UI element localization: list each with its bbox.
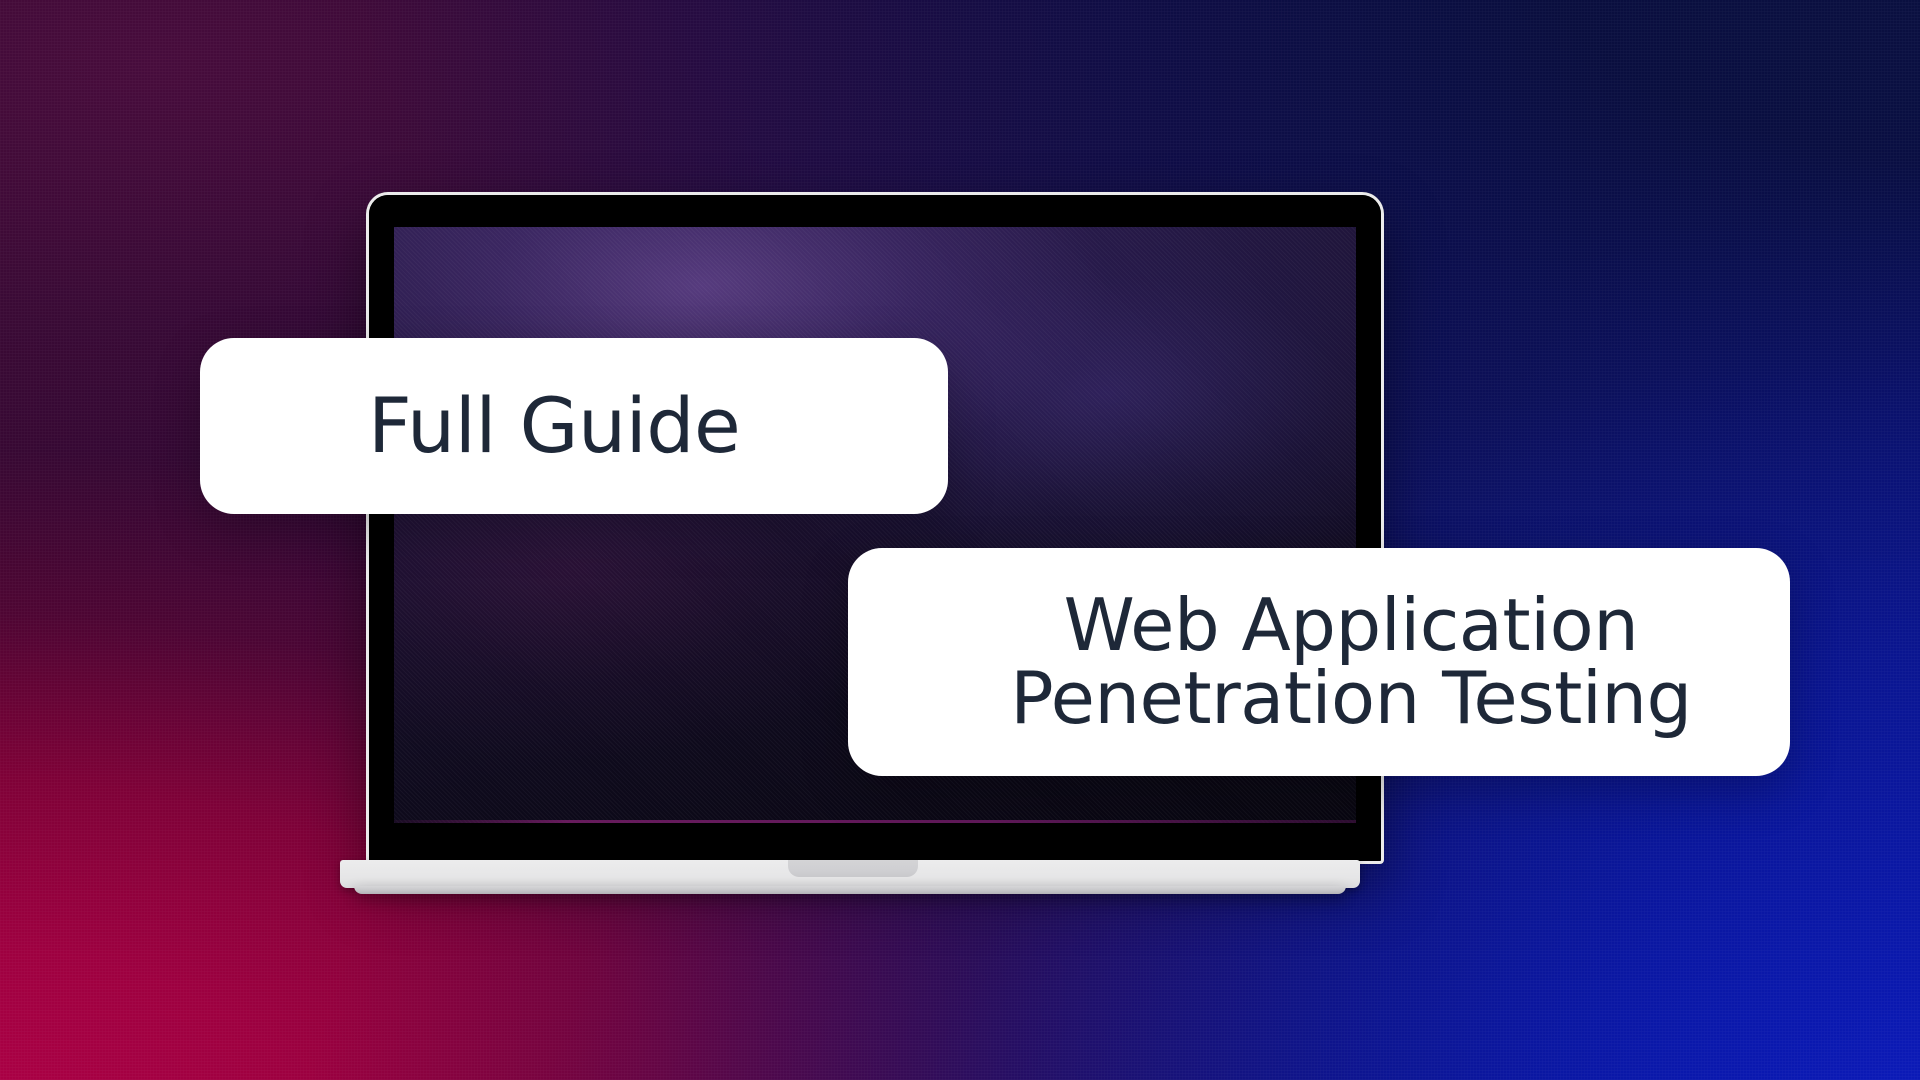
laptop-base-lip bbox=[354, 886, 1346, 894]
title-card: Web Application Penetration Testing bbox=[848, 548, 1790, 776]
screen-baseline bbox=[394, 820, 1356, 823]
badge-label-full-guide: Full Guide bbox=[368, 388, 740, 464]
poster-canvas: Full Guide Web Application Penetration T… bbox=[0, 0, 1920, 1080]
laptop-thumb-notch bbox=[788, 860, 918, 877]
badge-card-full-guide: Full Guide bbox=[200, 338, 948, 514]
title-line-2: Penetration Testing bbox=[1010, 662, 1691, 735]
title-line-1: Web Application bbox=[1064, 589, 1639, 662]
